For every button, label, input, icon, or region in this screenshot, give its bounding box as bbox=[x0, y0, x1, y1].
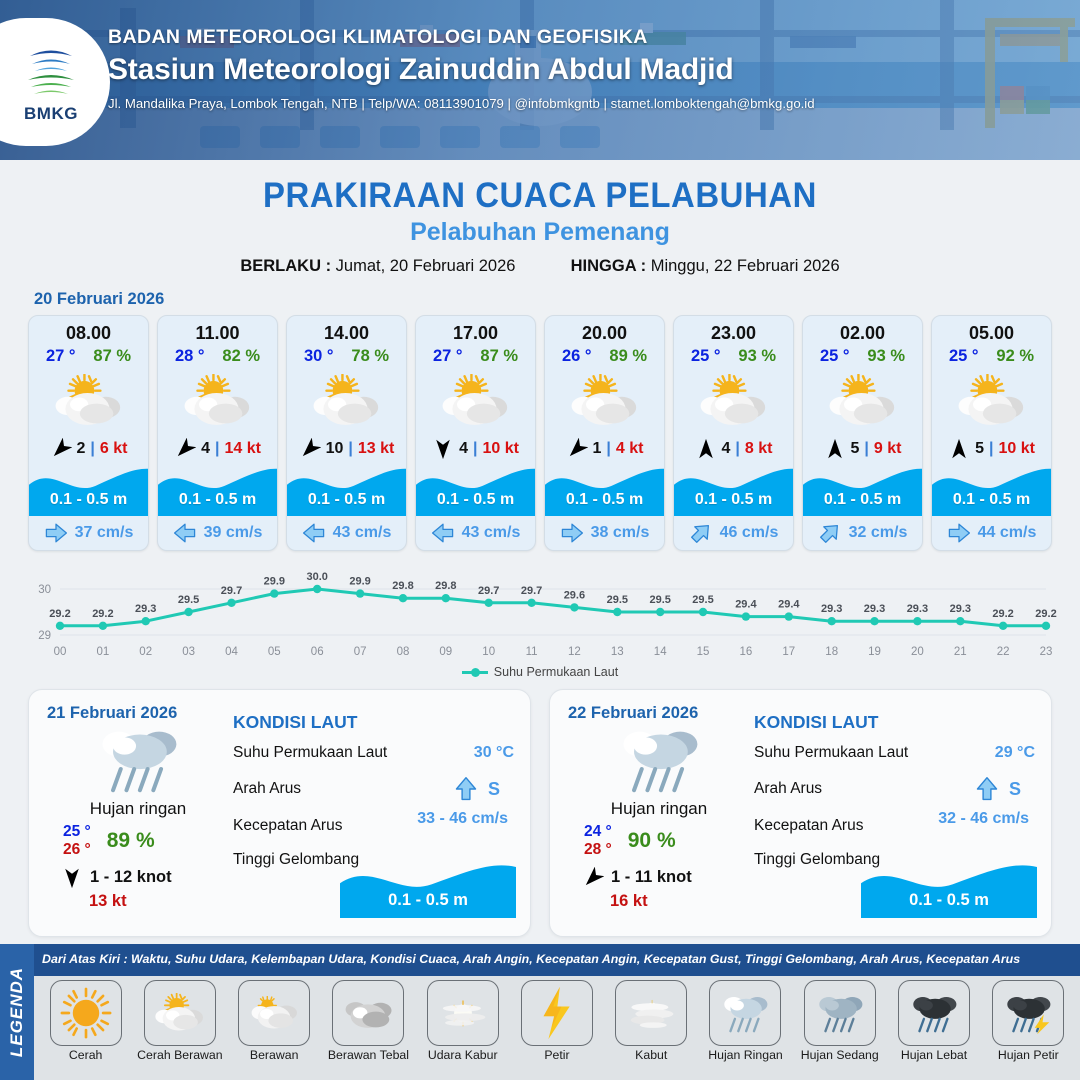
x-axis-tick: 11 bbox=[526, 646, 538, 658]
cerah-berawan-icon bbox=[309, 374, 385, 429]
card-wave: 0.1 - 0.5 m bbox=[674, 464, 793, 516]
daily-forecast-panel[interactable]: 22 Februari 2026 Hujan ringan 24 ° 28 ° … bbox=[549, 689, 1052, 937]
x-axis-tick: 06 bbox=[311, 646, 324, 658]
legend-item: Hujan Sedang bbox=[794, 980, 885, 1062]
legend-item-label: Berawan bbox=[229, 1048, 320, 1062]
wind-direction-southwest-icon bbox=[582, 867, 604, 889]
card-gust: 14 kt bbox=[224, 440, 260, 458]
wind-direction-southwest-icon bbox=[174, 438, 196, 460]
card-temperature: 30 ° bbox=[304, 347, 334, 366]
wind-direction-south-icon bbox=[61, 867, 83, 889]
x-axis-tick: 17 bbox=[782, 646, 795, 658]
data-label: 29.2 bbox=[49, 608, 70, 620]
card-current-row: 46 cm/s bbox=[674, 516, 793, 550]
card-humidity: 87 % bbox=[93, 347, 131, 366]
data-point bbox=[313, 585, 321, 593]
legend-item-label: Cerah Berawan bbox=[134, 1048, 225, 1062]
card-wave-value: 0.1 - 0.5 m bbox=[674, 491, 793, 509]
card-temp-humidity: 27 ° 87 % bbox=[29, 346, 148, 368]
card-humidity: 93 % bbox=[738, 347, 776, 366]
card-wind-row: 4 | 10 kt bbox=[416, 434, 535, 464]
legend-section: LEGENDA Dari Atas Kiri : Waktu, Suhu Uda… bbox=[0, 944, 1080, 1080]
wind-direction-north-icon bbox=[824, 438, 846, 460]
x-axis-tick: 13 bbox=[611, 646, 624, 658]
card-wind-row: 5 | 10 kt bbox=[932, 434, 1051, 464]
current-speed-value: 33 - 46 cm/s bbox=[417, 810, 508, 828]
current-speed-label: Kecepatan Arus bbox=[233, 817, 342, 835]
card-wind-speed: 4 bbox=[201, 440, 210, 458]
daily-temp-max: 26 ° bbox=[63, 841, 91, 859]
legend-item-label: Hujan Ringan bbox=[700, 1048, 791, 1062]
legend-icon-box bbox=[898, 980, 970, 1046]
petir-icon bbox=[537, 985, 576, 1041]
legend-item: Udara Kabur bbox=[417, 980, 508, 1062]
current-direction-label: Arah Arus bbox=[754, 780, 822, 798]
card-gust: 9 kt bbox=[874, 440, 902, 458]
card-weather-icon bbox=[287, 368, 406, 434]
daily-temp-max: 28 ° bbox=[584, 841, 612, 859]
card-wind-row: 10 | 13 kt bbox=[287, 434, 406, 464]
card-temperature: 27 ° bbox=[433, 347, 463, 366]
valid-to-value: Minggu, 22 Februari 2026 bbox=[651, 257, 840, 275]
daily-sea-conditions: KONDISI LAUT Suhu Permukaan Laut 29 °C A… bbox=[750, 690, 1051, 936]
sst-line bbox=[60, 589, 1046, 626]
current-direction-southwest-icon bbox=[689, 521, 713, 545]
current-direction-west-icon bbox=[947, 521, 971, 545]
x-axis-tick: 09 bbox=[439, 646, 452, 658]
card-temp-humidity: 25 ° 92 % bbox=[932, 346, 1051, 368]
card-temperature: 26 ° bbox=[562, 347, 592, 366]
card-time: 05.00 bbox=[932, 316, 1051, 346]
card-wind-speed: 5 bbox=[851, 440, 860, 458]
card-wind-row: 2 | 6 kt bbox=[29, 434, 148, 464]
card-temperature: 25 ° bbox=[691, 347, 721, 366]
udara-kabur-icon bbox=[435, 996, 491, 1031]
card-gust: 13 kt bbox=[358, 440, 394, 458]
card-gust: 4 kt bbox=[616, 440, 644, 458]
card-wave-value: 0.1 - 0.5 m bbox=[416, 491, 535, 509]
kabut-icon bbox=[623, 996, 679, 1031]
card-gust: 8 kt bbox=[745, 440, 773, 458]
daily-wind-row: 1 - 11 knot bbox=[568, 867, 750, 889]
card-humidity: 82 % bbox=[222, 347, 260, 366]
chart-legend-label: Suhu Permukaan Laut bbox=[494, 665, 618, 679]
x-axis-tick: 22 bbox=[997, 646, 1010, 658]
cerah-berawan-icon bbox=[825, 374, 901, 429]
data-point bbox=[99, 622, 107, 630]
wind-direction-north-icon bbox=[948, 438, 970, 460]
card-weather-icon bbox=[158, 368, 277, 434]
current-direction-west-icon bbox=[560, 521, 584, 545]
card-temp-humidity: 27 ° 87 % bbox=[416, 346, 535, 368]
daily-weather-icon bbox=[47, 721, 229, 797]
validity-period: BERLAKU : Jumat, 20 Februari 2026 HINGGA… bbox=[0, 257, 1080, 276]
wind-direction-south-icon bbox=[432, 438, 454, 460]
legend-icon-box bbox=[427, 980, 499, 1046]
data-point bbox=[828, 617, 836, 625]
legend-icon-box bbox=[992, 980, 1064, 1046]
card-wind-speed: 4 bbox=[459, 440, 468, 458]
card-current-row: 39 cm/s bbox=[158, 516, 277, 550]
sst-row: Suhu Permukaan Laut 30 °C bbox=[233, 742, 514, 763]
card-separator: | bbox=[606, 440, 610, 458]
data-point bbox=[570, 603, 578, 611]
card-separator: | bbox=[735, 440, 739, 458]
card-separator: | bbox=[90, 440, 94, 458]
data-label: 29.7 bbox=[478, 585, 499, 597]
card-temperature: 28 ° bbox=[175, 347, 205, 366]
legend-item-label: Kabut bbox=[606, 1048, 697, 1062]
data-point bbox=[442, 594, 450, 602]
data-point bbox=[956, 617, 964, 625]
card-wave-value: 0.1 - 0.5 m bbox=[158, 491, 277, 509]
card-gust: 10 kt bbox=[482, 440, 518, 458]
daily-wind-range: 1 - 12 knot bbox=[90, 868, 172, 887]
daily-wave-graphic: 0.1 - 0.5 m bbox=[861, 860, 1037, 918]
data-label: 30.0 bbox=[306, 571, 327, 583]
daily-left-column: 21 Februari 2026 Hujan ringan 25 ° 26 ° … bbox=[29, 690, 229, 936]
legend-items-row: Cerah Cerah Berawan Berawan Berawan Teba… bbox=[34, 976, 1080, 1080]
cerah-berawan-icon bbox=[567, 374, 643, 429]
card-temperature: 25 ° bbox=[820, 347, 850, 366]
card-time: 14.00 bbox=[287, 316, 406, 346]
card-current-speed: 32 cm/s bbox=[849, 524, 908, 542]
card-separator: | bbox=[989, 440, 993, 458]
card-current-speed: 43 cm/s bbox=[333, 524, 392, 542]
card-humidity: 92 % bbox=[996, 347, 1034, 366]
x-axis-tick: 07 bbox=[354, 646, 367, 658]
x-axis-tick: 21 bbox=[954, 646, 967, 658]
daily-temp-humidity: 25 ° 26 ° 89 % bbox=[47, 823, 229, 860]
daily-left-column: 22 Februari 2026 Hujan ringan 24 ° 28 ° … bbox=[550, 690, 750, 936]
card-separator: | bbox=[215, 440, 219, 458]
card-humidity: 93 % bbox=[867, 347, 905, 366]
daily-wave-value: 0.1 - 0.5 m bbox=[340, 891, 516, 910]
valid-from-value: Jumat, 20 Februari 2026 bbox=[336, 257, 516, 275]
cerah-berawan-icon bbox=[51, 374, 127, 429]
x-axis-tick: 02 bbox=[139, 646, 152, 658]
page-title: PRAKIRAAN CUACA PELABUHAN bbox=[32, 176, 1047, 216]
sea-conditions-heading: KONDISI LAUT bbox=[754, 712, 1035, 733]
legend-item-label: Berawan Tebal bbox=[323, 1048, 414, 1062]
card-wind-direction bbox=[948, 438, 970, 460]
data-label: 29.5 bbox=[178, 594, 199, 606]
page-header: BMKG BADAN METEOROLOGI KLIMATOLOGI DAN G… bbox=[0, 0, 1080, 160]
title-section: PRAKIRAAN CUACA PELABUHAN Pelabuhan Peme… bbox=[0, 160, 1080, 276]
x-axis-tick: 18 bbox=[825, 646, 838, 658]
card-wave: 0.1 - 0.5 m bbox=[545, 464, 664, 516]
legend-item-label: Hujan Sedang bbox=[794, 1048, 885, 1062]
hourly-forecast-cards: 08.00 27 ° 87 % 2 | 6 kt 0.1 - 0.5 m 37 … bbox=[0, 315, 1080, 551]
data-point bbox=[613, 608, 621, 616]
x-axis-tick: 01 bbox=[97, 646, 110, 658]
card-wind-direction bbox=[299, 438, 321, 460]
hourly-card[interactable]: 08.00 27 ° 87 % 2 | 6 kt 0.1 - 0.5 m 37 … bbox=[28, 315, 149, 551]
x-axis-tick: 14 bbox=[654, 646, 667, 658]
card-weather-icon bbox=[416, 368, 535, 434]
card-wave: 0.1 - 0.5 m bbox=[803, 464, 922, 516]
card-humidity: 87 % bbox=[480, 347, 518, 366]
card-wave-value: 0.1 - 0.5 m bbox=[29, 491, 148, 509]
sst-label: Suhu Permukaan Laut bbox=[754, 744, 908, 762]
current-direction-value: S bbox=[974, 776, 1035, 802]
cerah-icon bbox=[58, 985, 114, 1041]
data-point bbox=[485, 599, 493, 607]
daily-temp-humidity: 24 ° 28 ° 90 % bbox=[568, 823, 750, 860]
x-axis-tick: 05 bbox=[268, 646, 281, 658]
daily-wind-row: 1 - 12 knot bbox=[47, 867, 229, 889]
card-wind-speed: 1 bbox=[593, 440, 602, 458]
data-label: 29.7 bbox=[221, 585, 242, 597]
current-direction-south-icon bbox=[974, 776, 1000, 802]
current-speed-value: 32 - 46 cm/s bbox=[938, 810, 1029, 828]
card-temp-humidity: 30 ° 78 % bbox=[287, 346, 406, 368]
card-current-speed: 44 cm/s bbox=[978, 524, 1037, 542]
bmkg-logo-mark bbox=[20, 40, 82, 102]
card-current-speed: 46 cm/s bbox=[720, 524, 779, 542]
data-point bbox=[527, 599, 535, 607]
data-point bbox=[1042, 622, 1050, 630]
legend-item-label: Cerah bbox=[40, 1048, 131, 1062]
daily-temp-column: 25 ° 26 ° bbox=[63, 823, 91, 860]
wind-direction-southwest-icon bbox=[299, 438, 321, 460]
valid-to-label: HINGGA : bbox=[571, 257, 646, 275]
legend-item: Petir bbox=[511, 980, 602, 1062]
card-current-speed: 43 cm/s bbox=[462, 524, 521, 542]
data-label: 29.3 bbox=[135, 603, 156, 615]
sst-value: 30 °C bbox=[474, 744, 514, 762]
legend-item: Berawan Tebal bbox=[323, 980, 414, 1062]
hujan-ringan-icon bbox=[717, 992, 773, 1035]
card-wave: 0.1 - 0.5 m bbox=[287, 464, 406, 516]
sst-label: Suhu Permukaan Laut bbox=[233, 744, 387, 762]
card-wave-value: 0.1 - 0.5 m bbox=[545, 491, 664, 509]
data-label: 29.6 bbox=[564, 589, 585, 601]
legend-icon-box bbox=[332, 980, 404, 1046]
card-time: 02.00 bbox=[803, 316, 922, 346]
card-time: 17.00 bbox=[416, 316, 535, 346]
card-time: 11.00 bbox=[158, 316, 277, 346]
card-current-speed: 38 cm/s bbox=[591, 524, 650, 542]
data-label: 29.2 bbox=[92, 608, 113, 620]
data-label: 29.9 bbox=[349, 576, 370, 588]
hourly-card[interactable]: 23.00 25 ° 93 % 4 | 8 kt 0.1 - 0.5 m 46 … bbox=[673, 315, 794, 551]
daily-sea-conditions: KONDISI LAUT Suhu Permukaan Laut 30 °C A… bbox=[229, 690, 530, 936]
daily-humidity: 90 % bbox=[628, 829, 676, 853]
card-wind-speed: 2 bbox=[77, 440, 86, 458]
bmkg-emblem-icon bbox=[20, 40, 82, 102]
daily-wind-range: 1 - 11 knot bbox=[611, 868, 692, 887]
cerah-berawan-icon bbox=[954, 374, 1030, 429]
data-point bbox=[270, 589, 278, 597]
legend-item-label: Hujan Lebat bbox=[888, 1048, 979, 1062]
sst-chart-canvas: 293029.20029.20129.30229.50329.70429.905… bbox=[18, 561, 1062, 661]
legend-item-label: Udara Kabur bbox=[417, 1048, 508, 1062]
legend-item: Cerah bbox=[40, 980, 131, 1062]
current-direction-southwest-icon bbox=[818, 521, 842, 545]
legend-item: Hujan Lebat bbox=[888, 980, 979, 1062]
x-axis-tick: 23 bbox=[1040, 646, 1053, 658]
card-weather-icon bbox=[674, 368, 793, 434]
hourly-card[interactable]: 20.00 26 ° 89 % 1 | 4 kt 0.1 - 0.5 m 38 … bbox=[544, 315, 665, 551]
data-point bbox=[399, 594, 407, 602]
current-direction-west-icon bbox=[44, 521, 68, 545]
x-axis-tick: 08 bbox=[397, 646, 410, 658]
card-weather-icon bbox=[932, 368, 1051, 434]
sst-chart: 293029.20029.20129.30229.50329.70429.905… bbox=[18, 561, 1062, 661]
card-time: 20.00 bbox=[545, 316, 664, 346]
hujan-lebat-icon bbox=[906, 992, 962, 1035]
card-wave-value: 0.1 - 0.5 m bbox=[803, 491, 922, 509]
current-direction-label: Arah Arus bbox=[233, 780, 301, 798]
x-axis-tick: 10 bbox=[482, 646, 495, 658]
legend-item: Kabut bbox=[606, 980, 697, 1062]
data-label: 29.2 bbox=[992, 608, 1013, 620]
wind-direction-southwest-icon bbox=[566, 438, 588, 460]
card-weather-icon bbox=[803, 368, 922, 434]
legend-item: Hujan Petir bbox=[983, 980, 1074, 1062]
y-axis-tick: 30 bbox=[38, 584, 51, 596]
card-temp-humidity: 26 ° 89 % bbox=[545, 346, 664, 368]
hujan-ringan-icon bbox=[90, 723, 186, 796]
data-label: 29.3 bbox=[821, 603, 842, 615]
card-gust: 6 kt bbox=[100, 440, 128, 458]
contact-line: Jl. Mandalika Praya, Lombok Tengah, NTB … bbox=[108, 96, 815, 111]
data-point bbox=[227, 599, 235, 607]
cerah-berawan-icon bbox=[696, 374, 772, 429]
current-direction-east-icon bbox=[173, 521, 197, 545]
card-separator: | bbox=[864, 440, 868, 458]
data-label: 29.5 bbox=[607, 594, 628, 606]
card-temp-humidity: 25 ° 93 % bbox=[674, 346, 793, 368]
card-current-row: 43 cm/s bbox=[287, 516, 406, 550]
daily-forecast-panel[interactable]: 21 Februari 2026 Hujan ringan 25 ° 26 ° … bbox=[28, 689, 531, 937]
hourly-card[interactable]: 05.00 25 ° 92 % 5 | 10 kt 0.1 - 0.5 m 44… bbox=[931, 315, 1052, 551]
x-axis-tick: 19 bbox=[868, 646, 881, 658]
data-label: 29.3 bbox=[864, 603, 885, 615]
card-separator: | bbox=[473, 440, 477, 458]
x-axis-tick: 12 bbox=[568, 646, 581, 658]
card-temp-humidity: 28 ° 82 % bbox=[158, 346, 277, 368]
legend-item: Berawan bbox=[229, 980, 320, 1062]
daily-weather-icon bbox=[568, 721, 750, 797]
card-wave: 0.1 - 0.5 m bbox=[932, 464, 1051, 516]
legend-icon-box bbox=[50, 980, 122, 1046]
card-current-row: 44 cm/s bbox=[932, 516, 1051, 550]
hourly-card[interactable]: 11.00 28 ° 82 % 4 | 14 kt 0.1 - 0.5 m 39… bbox=[157, 315, 278, 551]
header-text-block: BADAN METEOROLOGI KLIMATOLOGI DAN GEOFIS… bbox=[108, 26, 815, 111]
legend-side-tab: LEGENDA bbox=[0, 944, 34, 1080]
hujan-sedang-icon bbox=[812, 992, 868, 1035]
daily-humidity: 89 % bbox=[107, 829, 155, 853]
card-temperature: 25 ° bbox=[949, 347, 979, 366]
data-point bbox=[656, 608, 664, 616]
card-temp-humidity: 25 ° 93 % bbox=[803, 346, 922, 368]
hujan-ringan-icon bbox=[611, 723, 707, 796]
card-current-row: 37 cm/s bbox=[29, 516, 148, 550]
hourly-date-label: 20 Februari 2026 bbox=[34, 290, 1080, 309]
legend-marker-icon bbox=[462, 671, 488, 674]
legend-side-label: LEGENDA bbox=[7, 967, 27, 1057]
sst-row: Suhu Permukaan Laut 29 °C bbox=[754, 742, 1035, 763]
legend-item-label: Petir bbox=[511, 1048, 602, 1062]
data-point bbox=[699, 608, 707, 616]
current-speed-label: Kecepatan Arus bbox=[754, 817, 863, 835]
card-current-speed: 39 cm/s bbox=[204, 524, 263, 542]
x-axis-tick: 20 bbox=[911, 646, 924, 658]
daily-condition: Hujan ringan bbox=[47, 799, 229, 819]
x-axis-tick: 03 bbox=[182, 646, 195, 658]
legend-icon-box bbox=[709, 980, 781, 1046]
daily-gust: 13 kt bbox=[47, 892, 229, 911]
sea-conditions-heading: KONDISI LAUT bbox=[233, 712, 514, 733]
valid-from-label: BERLAKU : bbox=[240, 257, 331, 275]
daily-temp-column: 24 ° 28 ° bbox=[584, 823, 612, 860]
daily-condition: Hujan ringan bbox=[568, 799, 750, 819]
cerah-berawan-icon bbox=[180, 374, 256, 429]
card-time: 08.00 bbox=[29, 316, 148, 346]
card-time: 23.00 bbox=[674, 316, 793, 346]
data-point bbox=[785, 612, 793, 620]
card-current-row: 38 cm/s bbox=[545, 516, 664, 550]
hourly-card[interactable]: 17.00 27 ° 87 % 4 | 10 kt 0.1 - 0.5 m 43… bbox=[415, 315, 536, 551]
berawan-tebal-icon bbox=[340, 996, 396, 1031]
hourly-card[interactable]: 14.00 30 ° 78 % 10 | 13 kt 0.1 - 0.5 m 4… bbox=[286, 315, 407, 551]
data-label: 29.5 bbox=[692, 594, 713, 606]
cerah-berawan-icon bbox=[438, 374, 514, 429]
hourly-card[interactable]: 02.00 25 ° 93 % 5 | 9 kt 0.1 - 0.5 m 32 … bbox=[802, 315, 923, 551]
chart-legend: Suhu Permukaan Laut bbox=[0, 665, 1080, 679]
card-current-row: 32 cm/s bbox=[803, 516, 922, 550]
current-direction-text: S bbox=[1009, 779, 1021, 800]
card-wind-speed: 4 bbox=[722, 440, 731, 458]
card-wave-value: 0.1 - 0.5 m bbox=[287, 491, 406, 509]
agency-name: BADAN METEOROLOGI KLIMATOLOGI DAN GEOFIS… bbox=[108, 26, 815, 49]
data-label: 29.8 bbox=[435, 580, 456, 592]
y-axis-tick: 29 bbox=[38, 630, 51, 642]
data-point bbox=[56, 622, 64, 630]
card-humidity: 89 % bbox=[609, 347, 647, 366]
card-wind-direction bbox=[824, 438, 846, 460]
data-label: 29.4 bbox=[735, 599, 757, 611]
daily-temp-min: 24 ° bbox=[584, 823, 612, 841]
card-current-row: 43 cm/s bbox=[416, 516, 535, 550]
data-label: 29.2 bbox=[1035, 608, 1056, 620]
data-point bbox=[870, 617, 878, 625]
card-wave: 0.1 - 0.5 m bbox=[29, 464, 148, 516]
legend-note: Dari Atas Kiri : Waktu, Suhu Udara, Kele… bbox=[42, 952, 1072, 966]
card-weather-icon bbox=[29, 368, 148, 434]
card-wave: 0.1 - 0.5 m bbox=[158, 464, 277, 516]
card-wind-speed: 10 bbox=[326, 440, 344, 458]
daily-forecast-panels: 21 Februari 2026 Hujan ringan 25 ° 26 ° … bbox=[0, 679, 1080, 937]
card-wind-direction bbox=[50, 438, 72, 460]
page-subtitle: Pelabuhan Pemenang bbox=[0, 218, 1080, 247]
card-gust: 10 kt bbox=[998, 440, 1034, 458]
wind-direction-southwest-icon bbox=[50, 438, 72, 460]
card-wind-direction bbox=[695, 438, 717, 460]
card-wind-row: 4 | 14 kt bbox=[158, 434, 277, 464]
data-label: 29.8 bbox=[392, 580, 413, 592]
data-label: 29.4 bbox=[778, 599, 800, 611]
berawan-icon bbox=[246, 996, 302, 1031]
card-weather-icon bbox=[545, 368, 664, 434]
wind-direction-north-icon bbox=[695, 438, 717, 460]
x-axis-tick: 16 bbox=[740, 646, 753, 658]
legend-item: Cerah Berawan bbox=[134, 980, 225, 1062]
data-point bbox=[999, 622, 1007, 630]
legend-icon-box bbox=[804, 980, 876, 1046]
